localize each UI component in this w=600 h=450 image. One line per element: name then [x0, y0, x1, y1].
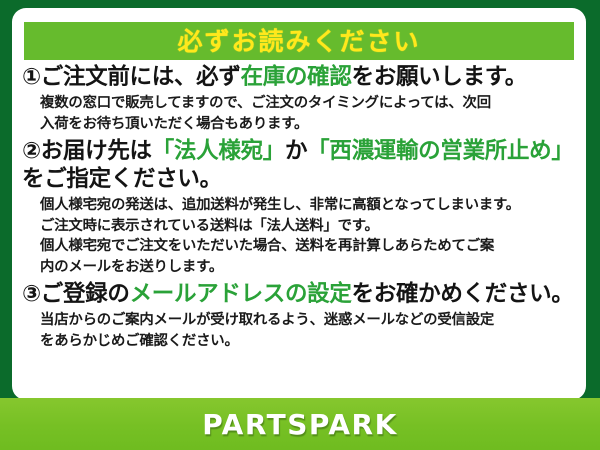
notice-item-2-heading-highlight-1: 「西濃運輸の営業所止め」: [307, 138, 573, 164]
brand-footer: PARTSPARK: [0, 398, 600, 450]
notice-item-2-heading: ②お届け先は「法人様宛」か「西濃運輸の営業所止め」をご指定ください。: [22, 138, 578, 193]
notice-item-3-body-line-0: 当店からのご案内メールが受け取れるよう、迷惑メールなどの受信設定: [40, 310, 578, 330]
notice-item-3: ③ご登録のメールアドレスの設定をお確かめください。 当店からのご案内メールが受け…: [22, 281, 578, 351]
notice-item-2-body-line-2: 個人様宅宛でご注文をいただいた場合、送料を再計算しあらためてご案: [40, 236, 578, 256]
notice-item-1-heading-part-0: ①ご注文前には、必ず: [22, 64, 241, 90]
notice-item-3-body-line-1: をあらかじめご確認ください。: [40, 331, 578, 351]
notice-item-1-body: 複数の窓口で販売してますので、ご注文のタイミングによっては、次回 入荷をお待ち頂…: [22, 91, 578, 134]
notice-item-3-heading-part-2: をお確かめください。: [352, 281, 574, 307]
notice-item-2-body-line-3: 内のメールをお送りします。: [40, 257, 578, 277]
notice-item-2-body-line-1: ご注文時に表示されている送料は「法人送料」です。: [40, 216, 578, 236]
notice-item-2-heading-highlight-0: 「法人様宛」: [152, 138, 285, 164]
notice-card: 必ずお読みください ①ご注文前には、必ず在庫の確認をお願いします。 複数の窓口で…: [0, 0, 600, 450]
notice-item-1-heading-highlight: 在庫の確認: [241, 64, 352, 90]
notice-item-3-heading: ③ご登録のメールアドレスの設定をお確かめください。: [22, 281, 578, 308]
brand-logo-text: PARTSPARK: [202, 408, 398, 441]
notice-title: 必ずお読みください: [177, 29, 420, 54]
notice-content: ①ご注文前には、必ず在庫の確認をお願いします。 複数の窓口で販売してますので、ご…: [12, 64, 586, 355]
notice-item-1-body-line-0: 複数の窓口で販売してますので、ご注文のタイミングによっては、次回: [40, 93, 578, 113]
notice-header-bar: 必ずお読みください: [24, 22, 574, 60]
notice-item-2-body: 個人様宅宛の発送は、追加送料が発生し、非常に高額となってしまいます。 ご注文時に…: [22, 193, 578, 277]
notice-item-1-heading-part-2: をお願いします。: [352, 64, 527, 90]
notice-item-1-heading: ①ご注文前には、必ず在庫の確認をお願いします。: [22, 64, 578, 91]
notice-item-2-heading-part-4: をご指定ください。: [22, 166, 222, 192]
notice-item-2-heading-part-0: ②お届け先は: [22, 138, 152, 164]
notice-item-1: ①ご注文前には、必ず在庫の確認をお願いします。 複数の窓口で販売してますので、ご…: [22, 64, 578, 134]
notice-panel: 必ずお読みください ①ご注文前には、必ず在庫の確認をお願いします。 複数の窓口で…: [12, 8, 586, 400]
notice-item-2: ②お届け先は「法人様宛」か「西濃運輸の営業所止め」をご指定ください。 個人様宅宛…: [22, 138, 578, 277]
notice-item-2-heading-part-2: か: [285, 138, 307, 164]
notice-item-3-heading-highlight: メールアドレスの設定: [130, 281, 352, 307]
notice-item-3-body: 当店からのご案内メールが受け取れるよう、迷惑メールなどの受信設定 をあらかじめご…: [22, 308, 578, 351]
notice-item-2-body-line-0: 個人様宅宛の発送は、追加送料が発生し、非常に高額となってしまいます。: [40, 195, 578, 215]
notice-item-3-heading-part-0: ③ご登録の: [22, 281, 130, 307]
notice-item-1-body-line-1: 入荷をお待ち頂いただく場合もあります。: [40, 114, 578, 134]
